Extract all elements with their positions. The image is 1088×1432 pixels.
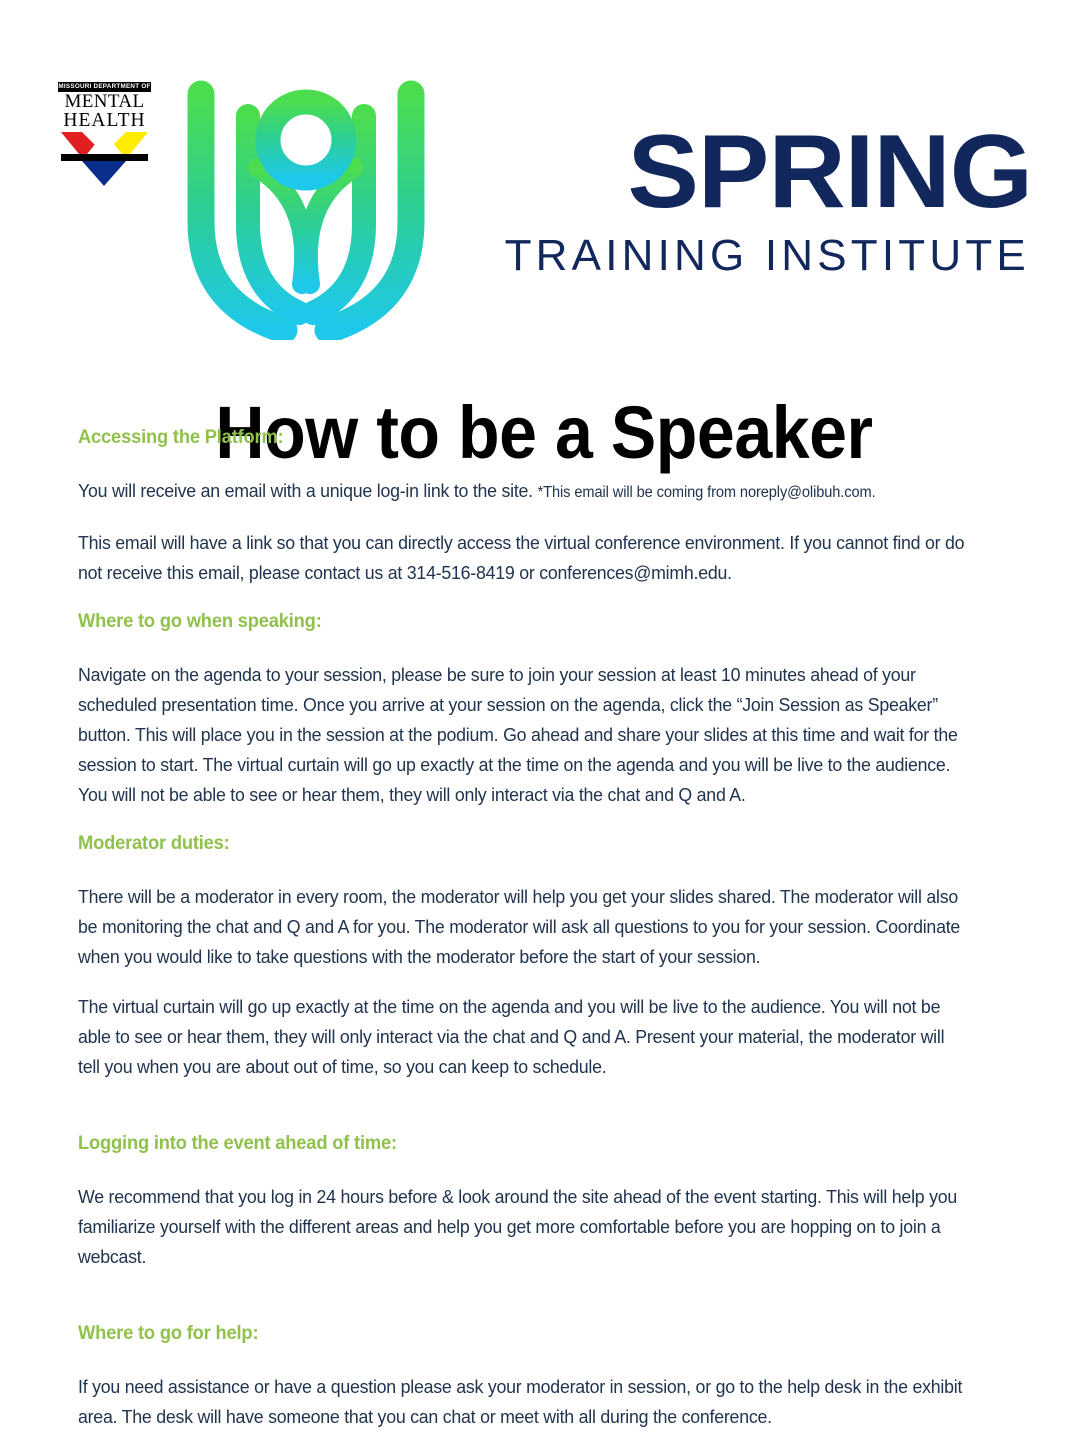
brand-subtitle: TRAINING INSTITUTE	[472, 230, 1032, 282]
section-heading-where-to-go-for-help: Where to go for help:	[78, 1320, 956, 1346]
seal-word-mental: MENTAL	[58, 92, 151, 111]
paragraph-contact-info: This email will have a link so that you …	[78, 528, 970, 588]
section-heading-where-to-go-when-speaking: Where to go when speaking:	[78, 608, 956, 634]
seal-word-health: HEALTH	[58, 111, 151, 130]
paragraph-moderator-responsibilities: There will be a moderator in every room,…	[78, 882, 970, 972]
seal-black-bar	[61, 154, 148, 161]
spring-training-institute-emblem-icon	[186, 72, 426, 340]
spring-training-institute-wordmark: SPRING TRAINING INSTITUTE	[472, 122, 1032, 282]
paragraph-email-login-link: You will receive an email with a unique …	[78, 476, 970, 508]
document-header: MISSOURI DEPARTMENT OF MENTAL HEALTH	[0, 0, 1088, 340]
seal-white-triangle-icon	[82, 132, 126, 154]
paragraph-note-sender-address: *This email will be coming from noreply@…	[538, 484, 876, 501]
paragraph-text: You will receive an email with a unique …	[78, 480, 538, 501]
section-heading-logging-in-ahead-of-time: Logging into the event ahead of time:	[78, 1130, 956, 1156]
seal-triangles-graphic	[58, 132, 151, 178]
paragraph-virtual-curtain-timing: The virtual curtain will go up exactly a…	[78, 992, 970, 1082]
paragraph-joining-your-session: Navigate on the agenda to your session, …	[78, 660, 970, 810]
brand-name: SPRING	[455, 122, 1032, 222]
paragraph-help-desk-info: If you need assistance or have a questio…	[78, 1372, 970, 1432]
section-heading-accessing-the-platform: Accessing the Platform:	[78, 424, 956, 450]
section-heading-moderator-duties: Moderator duties:	[78, 830, 956, 856]
missouri-dmh-seal-logo: MISSOURI DEPARTMENT OF MENTAL HEALTH	[58, 82, 151, 170]
seal-blue-triangle-icon	[82, 161, 126, 186]
document-body: Accessing the Platform: You will receive…	[78, 424, 1012, 1432]
document-page: MISSOURI DEPARTMENT OF MENTAL HEALTH	[0, 0, 1088, 1408]
paragraph-log-in-early-recommendation: We recommend that you log in 24 hours be…	[78, 1182, 970, 1272]
